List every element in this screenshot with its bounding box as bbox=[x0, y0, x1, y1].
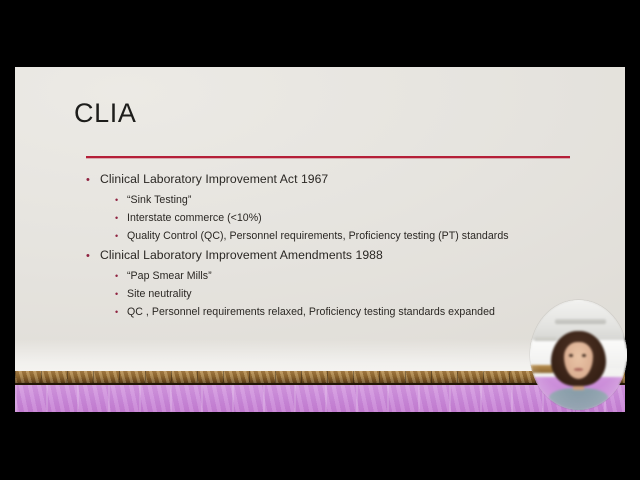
list-item: • “Sink Testing” bbox=[86, 194, 586, 212]
list-item: • Site neutrality bbox=[86, 288, 586, 306]
presenter-shirt bbox=[549, 388, 607, 410]
bullet-dot-icon: • bbox=[115, 214, 127, 223]
list-item: • Clinical Laboratory Improvement Amendm… bbox=[86, 248, 586, 270]
camera-background-shelf bbox=[555, 319, 605, 325]
camera-background-shelf-secondary bbox=[534, 336, 557, 340]
bullet-dot-icon: • bbox=[115, 232, 127, 241]
list-item-label: Site neutrality bbox=[127, 288, 192, 300]
list-item-label: Clinical Laboratory Improvement Amendmen… bbox=[100, 248, 383, 262]
bullet-dot-icon: • bbox=[86, 250, 100, 262]
list-item: • Interstate commerce (<10%) bbox=[86, 212, 586, 230]
bullet-dot-icon: • bbox=[115, 308, 127, 317]
list-item: • Quality Control (QC), Personnel requir… bbox=[86, 230, 586, 248]
bullet-dot-icon: • bbox=[115, 272, 127, 281]
list-item-label: Interstate commerce (<10%) bbox=[127, 212, 262, 224]
page-title: CLIA bbox=[74, 100, 136, 127]
list-item: • “Pap Smear Mills” bbox=[86, 270, 586, 288]
list-item-label: QC , Personnel requirements relaxed, Pro… bbox=[127, 306, 495, 318]
video-stage: CLIA • Clinical Laboratory Improvement A… bbox=[0, 0, 640, 480]
list-item-label: Clinical Laboratory Improvement Act 1967 bbox=[100, 172, 328, 186]
bullet-dot-icon: • bbox=[115, 196, 127, 205]
bullet-dot-icon: • bbox=[86, 174, 100, 186]
list-item-label: Quality Control (QC), Personnel requirem… bbox=[127, 230, 509, 242]
list-item-label: “Pap Smear Mills” bbox=[127, 270, 212, 282]
bullet-list: • Clinical Laboratory Improvement Act 19… bbox=[86, 172, 586, 324]
presenter-eye-right bbox=[582, 354, 586, 357]
presenter-mouth bbox=[574, 368, 584, 371]
presenter-eye-left bbox=[569, 354, 573, 357]
bullet-dot-icon: • bbox=[115, 290, 127, 299]
list-item: • QC , Personnel requirements relaxed, P… bbox=[86, 306, 586, 324]
title-divider bbox=[86, 156, 570, 158]
list-item-label: “Sink Testing” bbox=[127, 194, 191, 206]
camera-background-wood bbox=[530, 365, 553, 373]
presenter-video-overlay[interactable] bbox=[530, 300, 627, 410]
list-item: • Clinical Laboratory Improvement Act 19… bbox=[86, 172, 586, 194]
